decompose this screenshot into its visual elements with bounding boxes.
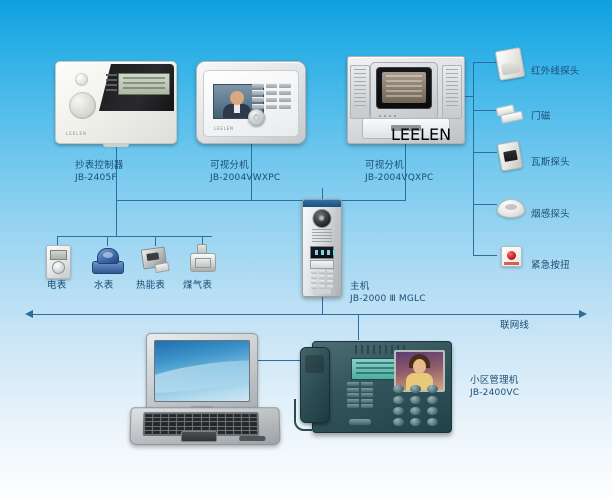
- line-sensor-2: [473, 110, 497, 111]
- indoor-unit-crt-picture: [382, 72, 426, 103]
- line-sensor-3: [473, 152, 497, 153]
- device-indoor-unit-crt[interactable]: LEELEN: [347, 56, 465, 144]
- line-sensor-bus: [473, 62, 474, 255]
- device-meter-controller[interactable]: LEELEN: [55, 61, 177, 144]
- line-meter-water: [107, 236, 108, 246]
- door-station-card-reader[interactable]: [310, 260, 334, 269]
- label-sensor-1: 门磁: [531, 111, 550, 123]
- label-sensor-3: 烟感探头: [531, 209, 570, 221]
- meter-controller-logo: LEELEN: [66, 131, 87, 136]
- label-meter-1: 水表: [94, 280, 113, 292]
- line-sensor-4: [473, 204, 497, 205]
- screen-visitor-collar: [234, 104, 240, 113]
- line-door-station-to-backbone: [322, 297, 323, 314]
- indoor-unit-crt-housing: LEELEN: [347, 56, 465, 144]
- indoor-unit-lcd-keypad[interactable]: [252, 83, 291, 109]
- label-sensor-0: 红外线探头: [531, 66, 580, 78]
- sensor-door-magnet[interactable]: [497, 98, 523, 128]
- meter-controller-led-icon: [75, 73, 88, 86]
- meter-controller-foot: [103, 143, 129, 147]
- meter-controller-keys[interactable]: [106, 74, 118, 94]
- sensor-smoke-detector[interactable]: [497, 193, 523, 223]
- label-door-station-model: JB-2000 Ⅲ MGLC: [350, 293, 426, 305]
- system-diagram-canvas: LEELEN 抄表控制器 JB-2405F LEELEN 可视分机 JB-200…: [0, 0, 612, 500]
- camera-icon: [313, 209, 332, 228]
- line-sensor-1: [473, 62, 497, 63]
- indoor-unit-crt-logo: LEELEN: [391, 125, 421, 131]
- meter-controller-lcd-icon: [118, 73, 170, 95]
- management-unit-handset-cord: [294, 399, 312, 431]
- device-management-unit[interactable]: [300, 337, 452, 433]
- label-meter-controller-name: 抄表控制器: [75, 160, 124, 172]
- heat-meter-icon[interactable]: [140, 246, 170, 274]
- label-network-line: 联网线: [500, 320, 529, 332]
- device-indoor-unit-lcd[interactable]: LEELEN: [196, 61, 306, 144]
- electric-meter-dial: [52, 261, 65, 274]
- line-upper-bus: [116, 200, 406, 201]
- laptop-touchpad[interactable]: [181, 431, 217, 442]
- label-meter-controller-model: JB-2405F: [75, 172, 117, 184]
- device-door-station[interactable]: [302, 199, 342, 297]
- label-door-station-name: 主机: [350, 281, 369, 293]
- water-meter-cap: [97, 248, 119, 264]
- label-indoor-unit-lcd-model: JB-2004VWXPC: [210, 172, 280, 184]
- gas-detector-icon: [497, 140, 524, 171]
- gas-meter-drum: [190, 253, 216, 272]
- indoor-unit-crt-left-grille: [350, 65, 370, 119]
- line-meter-bus: [57, 236, 212, 237]
- indoor-unit-lcd-housing: LEELEN: [196, 61, 306, 144]
- indoor-unit-lcd-faceplate: LEELEN: [203, 70, 299, 137]
- label-sensor-4: 紧急按扭: [531, 260, 570, 272]
- label-indoor-unit-crt-model: JB-2004VQXPC: [365, 172, 434, 184]
- network-backbone-line: [32, 314, 580, 315]
- indoor-unit-crt-monitor: [370, 62, 438, 120]
- management-unit-keypad[interactable]: [393, 385, 441, 426]
- laptop-screen: [154, 340, 250, 402]
- backbone-arrow-right-icon: [579, 310, 587, 318]
- door-magnet-icon: [496, 102, 525, 123]
- laptop-speaker: [239, 436, 265, 441]
- label-meter-3: 煤气表: [183, 280, 212, 292]
- door-station-housing: [302, 199, 342, 297]
- management-unit-housing: [312, 341, 452, 433]
- label-management-unit-name: 小区管理机: [470, 375, 519, 387]
- infrared-detector-icon: [495, 47, 526, 81]
- door-station-bottom-plate: [313, 289, 331, 294]
- door-station-display: [310, 246, 334, 259]
- indoor-unit-crt-indicators: [379, 115, 396, 117]
- indoor-unit-lcd-talk-button[interactable]: [248, 109, 265, 126]
- electric-meter-icon[interactable]: [46, 245, 71, 279]
- label-sensor-2: 瓦斯探头: [531, 157, 570, 169]
- emergency-button-icon: [501, 246, 522, 267]
- management-unit-nav-bar[interactable]: [349, 419, 371, 425]
- line-meter-heat: [155, 236, 156, 246]
- indoor-unit-crt-tube: [376, 67, 432, 109]
- meter-controller-speaker-icon: [69, 92, 96, 119]
- sensor-infrared-detector[interactable]: [497, 49, 523, 79]
- smoke-detector-icon: [497, 199, 525, 218]
- laptop-base: [129, 407, 280, 445]
- meter-controller-housing: LEELEN: [55, 61, 177, 144]
- label-indoor-unit-crt-name: 可视分机: [365, 160, 404, 172]
- management-unit-function-keys[interactable]: [347, 382, 373, 408]
- label-meter-0: 电表: [47, 280, 66, 292]
- screen-visitor-face: [230, 91, 244, 105]
- backbone-arrow-left-icon: [25, 310, 33, 318]
- sensor-emergency-button[interactable]: [497, 241, 523, 271]
- label-meter-2: 热能表: [136, 280, 165, 292]
- indoor-unit-crt-right-grille: [442, 65, 462, 119]
- heat-meter-tail: [154, 262, 169, 273]
- line-sensor-5: [473, 255, 497, 256]
- door-station-keypad[interactable]: [311, 270, 333, 289]
- sensor-gas-detector[interactable]: [497, 141, 523, 171]
- device-pc-laptop[interactable]: [130, 333, 278, 446]
- indoor-unit-crt-base: LEELEN: [362, 118, 450, 139]
- label-indoor-unit-lcd-name: 可视分机: [210, 160, 249, 172]
- video-person-face: [413, 359, 426, 374]
- door-station-top-bar: [303, 200, 341, 207]
- line-controller-to-meters: [116, 200, 117, 236]
- gas-meter-icon[interactable]: [188, 244, 216, 274]
- door-station-speaker-grille: [312, 229, 332, 243]
- indoor-unit-lcd-logo: LEELEN: [214, 126, 234, 131]
- label-management-unit-model: JB-2400VC: [470, 387, 519, 399]
- laptop-lid: [146, 333, 258, 413]
- water-meter-icon[interactable]: [92, 248, 122, 274]
- electric-meter-window: [50, 250, 67, 260]
